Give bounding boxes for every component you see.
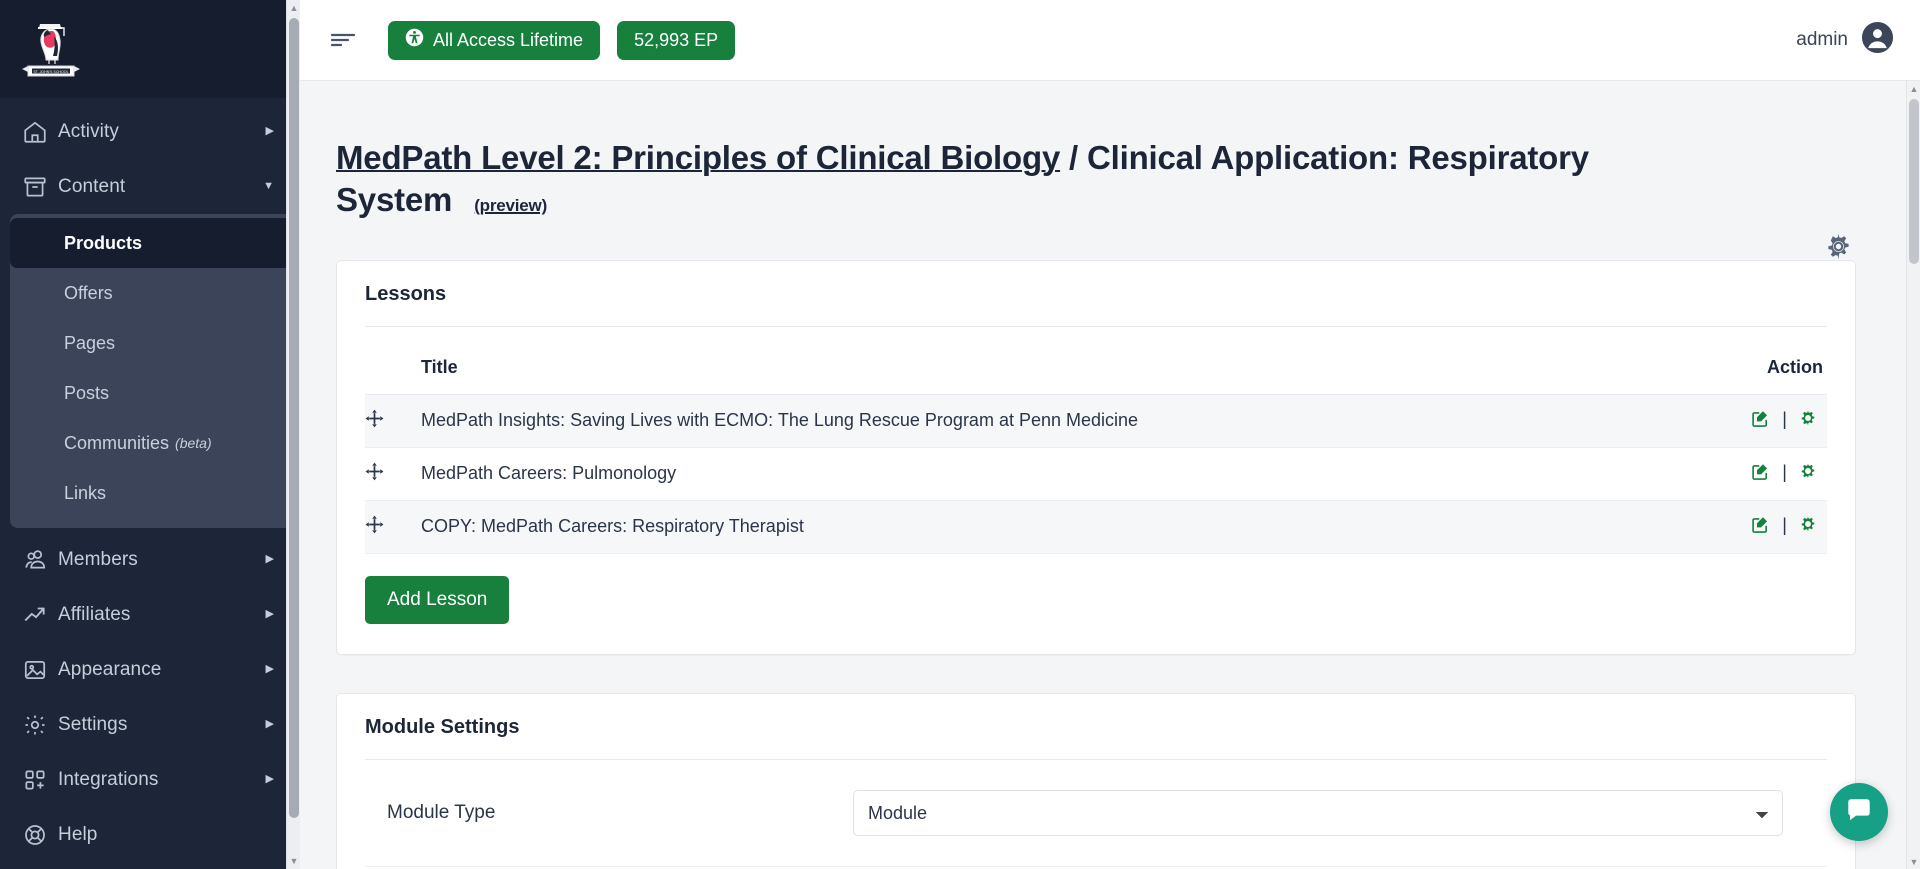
scroll-up-arrow-icon[interactable]: ▲ [287,0,300,16]
page-content: MedPath Level 2: Principles of Clinical … [300,81,1920,869]
chevron-down-icon: ▼ [263,181,274,192]
sidebar-item-label: Settings [58,714,266,736]
sidebar-item-offers[interactable]: Offers [10,268,292,318]
sidebar-item-label: Posts [64,383,109,404]
sidebar-item-label: Pages [64,333,115,354]
accessibility-person-icon [405,28,424,52]
main-area: All Access Lifetime 52,993 EP admin [300,0,1920,869]
edit-pencil-square-icon[interactable] [1751,462,1770,486]
sidebar-scrollbar[interactable]: ▲ ▼ [286,0,300,869]
chevron-right-icon: ▶ [266,664,274,675]
grid-plus-icon [22,767,58,793]
sidebar-item-activity[interactable]: Activity ▶ [0,104,300,159]
gear-icon[interactable] [1799,462,1817,485]
row-actions: | [1731,447,1827,500]
home-icon [22,119,58,145]
hamburger-align-left-icon[interactable] [322,19,364,61]
topbar: All Access Lifetime 52,993 EP admin [300,0,1920,81]
sidebar-item-label: Communities [64,433,169,454]
sidebar-scrollbar-thumb[interactable] [289,18,299,818]
sidebar-item-label: Affiliates [58,604,266,626]
lesson-title[interactable]: COPY: MedPath Careers: Respiratory Thera… [421,500,1731,553]
all-access-lifetime-label: All Access Lifetime [433,30,583,51]
lessons-card: Lessons Title Action [336,260,1856,655]
module-type-select[interactable]: Module [853,790,1783,836]
trending-up-icon [22,602,58,628]
edit-pencil-square-icon[interactable] [1751,409,1770,433]
module-settings-card: Module Settings Module Type Module [336,693,1856,869]
sidebar-item-links[interactable]: Links [10,468,292,518]
field-row-module-type: Module Type Module [365,760,1827,867]
gear-icon[interactable] [1799,515,1817,538]
sidebar-item-label: Offers [64,283,113,304]
ep-points-label: 52,993 EP [634,30,718,51]
sidebar-nav: Activity ▶ Content ▼ Products [0,98,300,869]
chat-bubble-icon [1844,795,1874,830]
sidebar-item-members[interactable]: Members ▶ [0,532,300,587]
page-title: MedPath Level 2: Principles of Clinical … [336,137,1756,221]
row-actions: | [1731,500,1827,553]
sidebar-item-settings[interactable]: Settings ▶ [0,697,300,752]
brand-logo-area[interactable]: ST. JOHN'S SCHOOL [0,0,300,98]
drag-move-icon[interactable] [365,394,421,447]
gear-icon [22,712,58,738]
scroll-up-arrow-icon[interactable]: ▲ [1907,81,1920,96]
users-icon [22,547,58,573]
table-row: MedPath Careers: Pulmonology [365,447,1827,500]
sidebar-item-label: Members [58,549,266,571]
table-row: MedPath Insights: Saving Lives with ECMO… [365,394,1827,447]
gear-icon[interactable] [1799,409,1817,432]
chevron-right-icon: ▶ [266,774,274,785]
row-actions: | [1731,394,1827,447]
preview-link[interactable]: (preview) [474,196,547,215]
archive-box-icon [22,174,58,200]
chevron-right-icon: ▶ [266,719,274,730]
scroll-down-arrow-icon[interactable]: ▼ [1907,854,1920,869]
page-settings-gear-icon[interactable] [1823,231,1854,267]
sidebar-item-appearance[interactable]: Appearance ▶ [0,642,300,697]
sidebar-item-label: Activity [58,121,266,143]
edit-pencil-square-icon[interactable] [1751,515,1770,539]
sidebar-item-label: Links [64,483,106,504]
module-type-label: Module Type [365,802,853,824]
sidebar-submenu-content: Products Offers Pages Posts Communities … [10,214,292,528]
svg-text:ST. JOHN'S SCHOOL: ST. JOHN'S SCHOOL [33,70,68,74]
lessons-table: Title Action [365,341,1827,554]
admin-label: admin [1796,29,1848,51]
chevron-right-icon: ▶ [266,609,274,620]
sidebar-item-label: Integrations [58,769,266,791]
action-separator: | [1782,462,1787,482]
sidebar-item-label: Help [58,824,274,846]
ep-points-badge[interactable]: 52,993 EP [617,21,735,60]
chat-support-button[interactable] [1830,783,1888,841]
chevron-right-icon: ▶ [266,126,274,137]
user-circle-icon [1861,21,1894,59]
add-lesson-button[interactable]: Add Lesson [365,576,509,624]
sidebar-item-label: Appearance [58,659,266,681]
sidebar-item-label: Products [64,233,142,254]
module-settings-heading: Module Settings [337,694,1855,759]
sidebar-item-communities[interactable]: Communities (beta) [10,418,292,468]
lesson-title[interactable]: MedPath Careers: Pulmonology [421,447,1731,500]
scroll-down-arrow-icon[interactable]: ▼ [287,853,300,869]
title-separator: / [1060,139,1087,176]
content-scrollbar[interactable]: ▲ ▼ [1906,81,1920,869]
drag-move-icon[interactable] [365,500,421,553]
sidebar-item-label: Content [58,176,263,198]
table-header-row: Title Action [365,341,1827,395]
sidebar-item-affiliates[interactable]: Affiliates ▶ [0,587,300,642]
sidebar-item-content[interactable]: Content ▼ [0,159,300,214]
action-separator: | [1782,515,1787,535]
table-row: COPY: MedPath Careers: Respiratory Thera… [365,500,1827,553]
content-scrollbar-thumb[interactable] [1909,99,1919,264]
col-title: Title [421,341,1731,395]
beta-badge: (beta) [175,435,212,451]
sidebar-item-help[interactable]: Help [0,807,300,862]
admin-account-menu[interactable]: admin [1796,21,1894,59]
sidebar: ST. JOHN'S SCHOOL Activity ▶ [0,0,300,869]
chevron-right-icon: ▶ [266,554,274,565]
sidebar-item-pages[interactable]: Pages [10,318,292,368]
admin-app-window: ST. JOHN'S SCHOOL Activity ▶ [0,0,1920,869]
action-separator: | [1782,409,1787,429]
all-access-lifetime-badge[interactable]: All Access Lifetime [388,21,600,60]
sidebar-item-logout[interactable]: Logout [0,862,300,869]
sidebar-item-products[interactable]: Products [10,218,292,268]
image-icon [22,657,58,683]
parent-product-link[interactable]: MedPath Level 2: Principles of Clinical … [336,139,1060,176]
lesson-title[interactable]: MedPath Insights: Saving Lives with ECMO… [421,394,1731,447]
sidebar-item-integrations[interactable]: Integrations ▶ [0,752,300,807]
col-drag-handle [365,341,421,395]
sidebar-item-posts[interactable]: Posts [10,368,292,418]
drag-move-icon[interactable] [365,447,421,500]
lessons-heading: Lessons [337,261,1855,326]
life-buoy-icon [22,822,58,848]
col-action: Action [1731,341,1827,395]
st-johns-logo: ST. JOHN'S SCHOOL [20,16,82,82]
